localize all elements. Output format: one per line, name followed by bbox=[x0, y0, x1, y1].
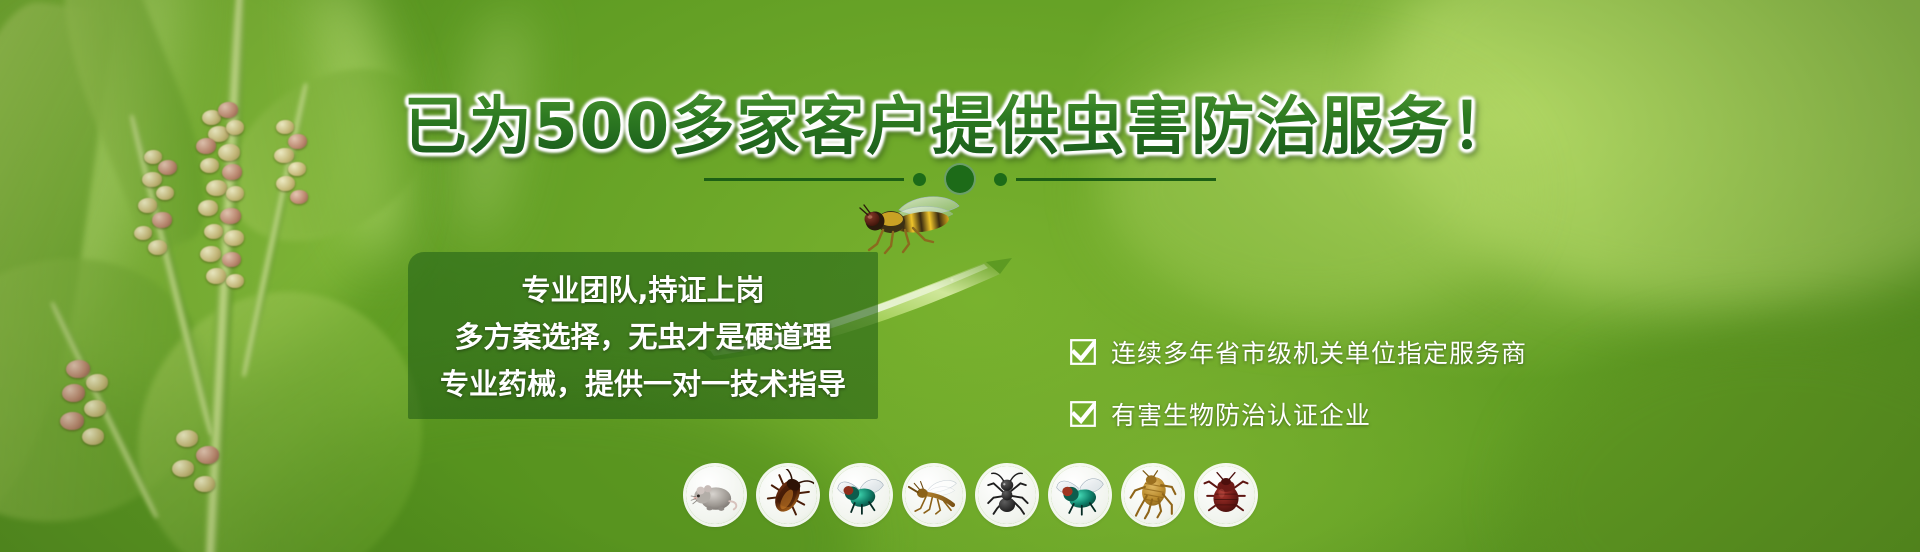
checkbox-checked-icon bbox=[1070, 401, 1096, 427]
decor-dot-small-right bbox=[994, 173, 1007, 186]
aphid bbox=[200, 246, 221, 262]
decorative-divider bbox=[0, 163, 1920, 195]
aphid bbox=[222, 252, 241, 267]
aphid bbox=[196, 446, 219, 464]
divider-rule-right bbox=[1016, 178, 1216, 181]
aphid bbox=[172, 460, 194, 477]
foliage-blob bbox=[1520, 330, 1920, 552]
bedbug-icon[interactable] bbox=[1197, 466, 1255, 524]
aphid bbox=[220, 208, 241, 224]
aphid bbox=[198, 200, 218, 216]
fly-icon[interactable] bbox=[832, 466, 890, 524]
aphid bbox=[60, 412, 84, 430]
aphid bbox=[66, 360, 90, 378]
headline-container: 已为500多家客户提供虫害防治服务！ bbox=[0, 76, 1920, 167]
pest-control-hero-banner: 已为500多家客户提供虫害防治服务！ 专业团队,持证上岗 多方案选择，无虫才是硬… bbox=[0, 0, 1920, 552]
plant-stem bbox=[48, 300, 161, 520]
divider-rule-left bbox=[704, 178, 904, 181]
decor-dot-large bbox=[944, 163, 976, 195]
checklist-item: 连续多年省市级机关单位指定服务商 bbox=[1070, 334, 1527, 370]
checkbox-checked-icon bbox=[1070, 339, 1096, 365]
mosquito-icon[interactable] bbox=[905, 466, 963, 524]
mouse-icon[interactable] bbox=[686, 466, 744, 524]
aphid bbox=[226, 274, 244, 288]
copy-line-1: 专业团队,持证上岗 bbox=[434, 266, 852, 309]
leaf-blade bbox=[0, 224, 240, 552]
page-title: 已为500多家客户提供虫害防治服务！ bbox=[404, 76, 1517, 167]
foliage-blob bbox=[0, 0, 400, 390]
aphid bbox=[176, 430, 198, 447]
aphid bbox=[134, 226, 152, 240]
pest-type-icon-strip bbox=[686, 466, 1255, 524]
copy-line-3: 专业药械，提供一对一技术指导 bbox=[434, 356, 852, 401]
aphid bbox=[206, 268, 226, 284]
cockroach-icon[interactable] bbox=[759, 466, 817, 524]
checklist-item-label: 连续多年省市级机关单位指定服务商 bbox=[1111, 334, 1527, 370]
decor-dot-small-left bbox=[913, 173, 926, 186]
flea-icon[interactable] bbox=[1124, 466, 1182, 524]
aphid bbox=[62, 384, 85, 402]
aphid bbox=[194, 476, 215, 492]
ant-icon[interactable] bbox=[978, 466, 1036, 524]
aphid bbox=[82, 428, 104, 445]
copy-line-2: 多方案选择，无虫才是硬道理 bbox=[434, 309, 852, 356]
aphid bbox=[224, 230, 244, 246]
aphid bbox=[152, 212, 172, 228]
aphid bbox=[148, 240, 167, 255]
aphid bbox=[138, 198, 157, 213]
checklist-item-label: 有害生物防治认证企业 bbox=[1111, 396, 1371, 432]
value-proposition-panel: 专业团队,持证上岗 多方案选择，无虫才是硬道理 专业药械，提供一对一技术指导 bbox=[408, 252, 878, 419]
credentials-checklist: 连续多年省市级机关单位指定服务商 有害生物防治认证企业 bbox=[1070, 334, 1527, 432]
checklist-item: 有害生物防治认证企业 bbox=[1070, 396, 1527, 432]
aphid bbox=[84, 400, 106, 417]
hoverfly-icon bbox=[855, 196, 965, 256]
blowfly-icon[interactable] bbox=[1051, 466, 1109, 524]
aphid bbox=[204, 224, 223, 239]
aphid bbox=[86, 374, 108, 391]
